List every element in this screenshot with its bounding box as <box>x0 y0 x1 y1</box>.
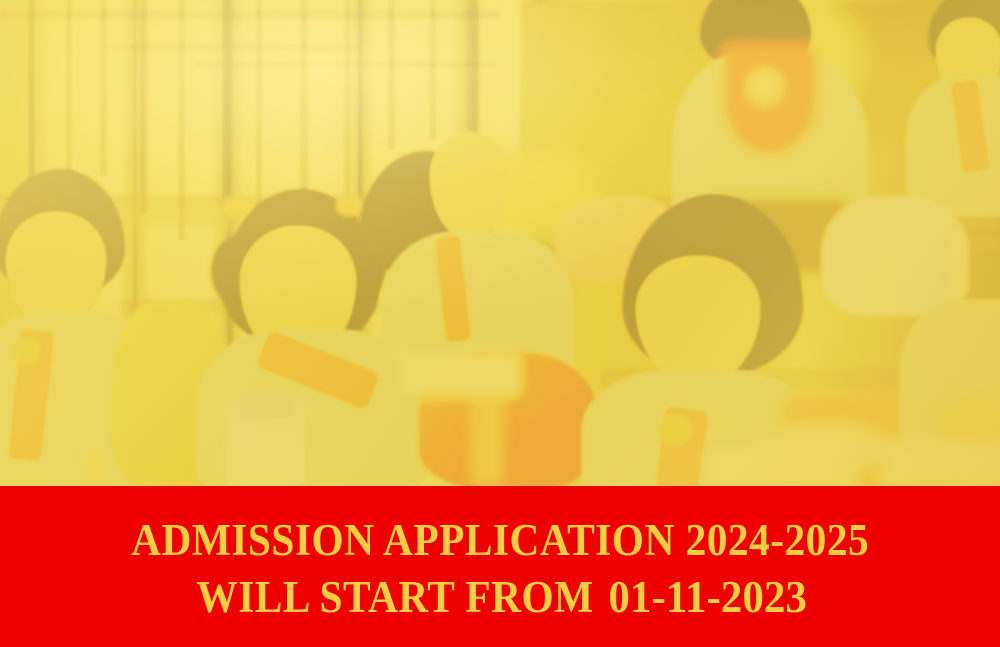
admission-announcement-banner: ADMISSION APPLICATION 2024-2025 WILL STA… <box>0 0 1000 647</box>
window-bar <box>430 0 436 140</box>
announcement-line-1: ADMISSION APPLICATION 2024-2025 <box>131 518 869 563</box>
water-bottle-cap <box>240 392 292 418</box>
hair-tie <box>336 196 362 216</box>
window-rail <box>108 44 358 50</box>
pencil-case <box>900 206 948 314</box>
announcement-start-date: 01-11-2023 <box>609 575 808 620</box>
window-bar <box>222 0 229 200</box>
plate <box>760 424 890 474</box>
classroom-photo <box>0 0 1000 487</box>
uniform-badge <box>12 338 38 364</box>
scarf-badge <box>748 70 782 104</box>
window-rail <box>196 62 496 67</box>
hair-tie <box>222 198 246 218</box>
window-bar <box>388 0 395 150</box>
announcement-bar: ADMISSION APPLICATION 2024-2025 WILL STA… <box>0 486 1000 647</box>
uniform-badge <box>658 414 692 446</box>
pencil <box>88 452 102 487</box>
window-rail <box>0 10 500 19</box>
notebook <box>880 440 1000 487</box>
window-bar <box>28 0 35 200</box>
announcement-line-2-prefix: WILL START FROM <box>197 575 594 620</box>
notebook <box>400 352 520 396</box>
window-bar <box>256 0 262 228</box>
window-bar <box>472 0 479 150</box>
announcement-line-2: WILL START FROM 01-11-2023 <box>197 575 804 620</box>
window-bar <box>140 0 148 215</box>
window-bar <box>100 0 107 175</box>
window-bar <box>344 0 351 205</box>
